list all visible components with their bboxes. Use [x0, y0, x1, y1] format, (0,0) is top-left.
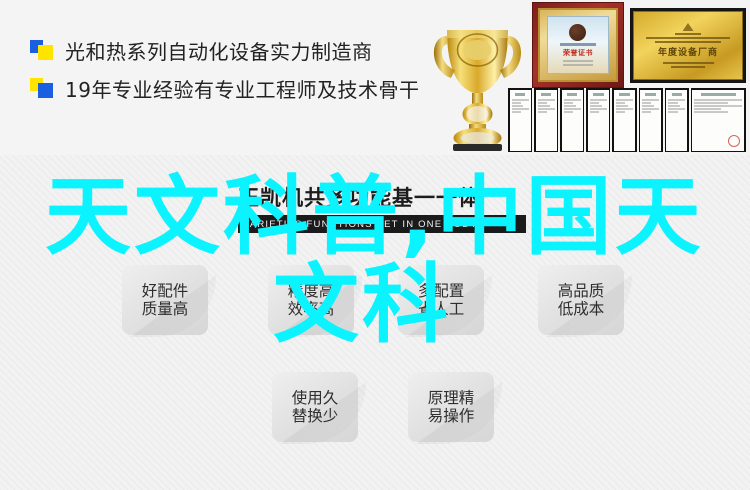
- plaque-line: [563, 64, 594, 66]
- feature-card-label: 好配件 质量高: [142, 282, 189, 319]
- feature-card-4[interactable]: 使用久 替换少: [272, 372, 358, 442]
- plaque-gold-face: 年度设备厂商: [633, 11, 743, 80]
- feature-line-2: 低成本: [558, 300, 605, 318]
- feature-line-2: 质量高: [142, 300, 189, 318]
- product-banner-subtitle-bar: VARIETIES FUNCTIONS SET IN ONE BODY: [238, 215, 526, 233]
- certificate-item: [534, 88, 558, 152]
- feature-line-1: 多配置: [418, 282, 465, 300]
- promo-banner-page: 光和热系列自动化设备实力制造商 19年专业经验有专业工程师及技术骨干: [0, 0, 750, 490]
- product-banner-subtitle-en: VARIETIES FUNCTIONS SET IN ONE BODY: [243, 219, 478, 230]
- bullet-square-front: [38, 45, 53, 60]
- feature-line-1: 原理精: [428, 389, 475, 407]
- award-plaque-gold: 年度设备厂商: [630, 8, 746, 83]
- company-logo-icon: [683, 23, 694, 31]
- bullet-marker-icon: [30, 78, 58, 98]
- slogan-row-1: 光和热系列自动化设备实力制造商: [30, 34, 419, 66]
- plaque-seal-icon: [569, 24, 586, 41]
- gold-plaque-title: 年度设备厂商: [658, 45, 718, 58]
- award-plaque-red: 荣誉证书: [532, 2, 624, 88]
- plaque-line: [646, 37, 730, 39]
- feature-card-label: 精度高 效率高: [288, 282, 335, 319]
- feature-line-1: 高品质: [558, 282, 605, 300]
- plaque-line: [563, 60, 594, 62]
- certificate-item: [665, 88, 689, 152]
- bullet-square-front: [38, 83, 53, 98]
- feature-card-5[interactable]: 原理精 易操作: [408, 372, 494, 442]
- feature-card-2[interactable]: 多配置 省人工: [398, 265, 484, 335]
- feature-line-2: 省人工: [418, 300, 465, 318]
- bullet-marker-icon: [30, 40, 58, 60]
- feature-card-label: 使用久 替换少: [292, 389, 339, 426]
- feature-card-label: 原理精 易操作: [428, 389, 475, 426]
- plaque-line: [663, 62, 714, 64]
- feature-line-2: 替换少: [292, 407, 339, 425]
- feature-line-1: 精度高: [288, 282, 335, 300]
- slogan-row-2: 19年专业经验有专业工程师及技术骨干: [30, 72, 419, 104]
- feature-line-1: 使用久: [292, 389, 339, 407]
- certificate-item: [639, 88, 663, 152]
- feature-line-1: 好配件: [142, 282, 189, 300]
- feature-line-2: 易操作: [428, 407, 475, 425]
- plaque-certificate-face: 荣誉证书: [547, 16, 608, 74]
- slogan-text-2: 19年专业经验有专业工程师及技术骨干: [65, 74, 419, 103]
- plaque-gold-frame: 荣誉证书: [538, 8, 618, 82]
- product-banner-title: 正凯机共多功能基一一体: [238, 182, 526, 212]
- certificate-item: [560, 88, 584, 152]
- product-banner: 正凯机共多功能基一一体 VARIETIES FUNCTIONS SET IN O…: [238, 182, 526, 238]
- feature-card-0[interactable]: 好配件 质量高: [122, 265, 208, 335]
- slogan-text-1: 光和热系列自动化设备实力制造商: [65, 36, 373, 65]
- feature-card-1[interactable]: 精度高 效率高: [268, 265, 354, 335]
- certificate-item: [508, 88, 532, 152]
- slogan-block: 光和热系列自动化设备实力制造商 19年专业经验有专业工程师及技术骨干: [30, 34, 419, 110]
- certificate-strip: [508, 88, 746, 152]
- plaque-line: [671, 66, 706, 68]
- certificate-stamp-icon: [728, 135, 740, 147]
- certificate-item-featured: [691, 88, 746, 152]
- header-band: 光和热系列自动化设备实力制造商 19年专业经验有专业工程师及技术骨干: [0, 0, 750, 155]
- plaque-red-text: 荣誉证书: [563, 48, 593, 58]
- certificate-item: [612, 88, 636, 152]
- feature-card-3[interactable]: 高品质 低成本: [538, 265, 624, 335]
- certificate-item: [586, 88, 610, 152]
- plaque-line: [675, 33, 702, 35]
- feature-card-label: 多配置 省人工: [418, 282, 465, 319]
- plaque-line: [560, 43, 596, 46]
- feature-card-label: 高品质 低成本: [558, 282, 605, 319]
- feature-line-2: 效率高: [288, 300, 335, 318]
- plaque-line: [655, 41, 720, 43]
